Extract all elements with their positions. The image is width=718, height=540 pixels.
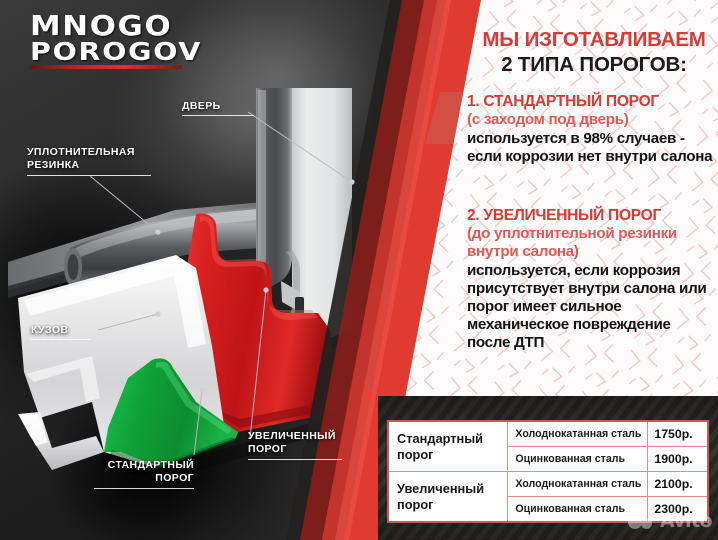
callout-body-label: КУЗОВ bbox=[31, 324, 68, 336]
price-value: 1900р. bbox=[648, 447, 708, 472]
callout-standard-label: СТАНДАРТНЫЙ ПОРОГ bbox=[108, 459, 194, 484]
price-value: 1750р. bbox=[648, 421, 708, 447]
headline-line-1: МЫ ИЗГОТАВЛИВАЕМ bbox=[472, 29, 716, 52]
price-material: Холоднокатанная сталь bbox=[508, 472, 648, 497]
sill-type-block-extended: 2. УВЕЛИЧЕННЫЙ ПОРОГ (до уплотнительной … bbox=[467, 207, 717, 352]
price-material: Оцинкованная сталь bbox=[508, 447, 648, 472]
avito-watermark-text: Avito bbox=[660, 510, 712, 532]
callout-underline bbox=[248, 459, 342, 460]
callout-door: ДВЕРЬ bbox=[182, 100, 262, 116]
callout-seal-label: УПЛОТНИТЕЛЬНАЯ РЕЗИНКА bbox=[27, 146, 135, 171]
price-category-extended: Увеличенный порог bbox=[388, 472, 508, 523]
price-material: Холоднокатанная сталь bbox=[508, 421, 648, 447]
price-category-standard: Стандартный порог bbox=[388, 421, 508, 472]
callout-extended-sill: УВЕЛИЧЕННЫЙ ПОРОГ bbox=[248, 430, 348, 460]
callout-standard-sill: СТАНДАРТНЫЙ ПОРОГ bbox=[88, 459, 194, 489]
poster-root: ДВЕРЬ УПЛОТНИТЕЛЬНАЯ РЕЗИНКА КУЗОВ СТАНД… bbox=[0, 0, 718, 540]
block-2-body: используется, если коррозия присутствует… bbox=[467, 262, 717, 352]
avito-watermark: Avito bbox=[628, 510, 712, 532]
logo-line-1: MNOGO bbox=[30, 13, 228, 39]
callout-body: КУЗОВ bbox=[31, 324, 97, 340]
callout-seal: УПЛОТНИТЕЛЬНАЯ РЕЗИНКА bbox=[27, 146, 157, 176]
block-2-title: 2. УВЕЛИЧЕННЫЙ ПОРОГ bbox=[467, 207, 717, 225]
logo-line-2: POROGOV bbox=[30, 40, 235, 63]
callout-extended-label: УВЕЛИЧЕННЫЙ ПОРОГ bbox=[248, 430, 336, 455]
block-1-subtitle: (с заходом под дверь) bbox=[467, 111, 717, 129]
block-1-title: 1. СТАНДАРТНЫЙ ПОРОГ bbox=[467, 93, 717, 111]
brand-logo: MNOGO POROGOV bbox=[30, 13, 210, 69]
callout-door-label: ДВЕРЬ bbox=[182, 100, 221, 112]
callout-underline bbox=[27, 175, 151, 176]
callout-underline bbox=[182, 115, 254, 116]
callout-underline bbox=[31, 339, 91, 340]
block-2-subtitle: (до уплотнительной резинки внутри салона… bbox=[467, 225, 717, 261]
table-row: Увеличенный порог Холоднокатанная сталь … bbox=[388, 472, 708, 497]
table-row: Стандартный порог Холоднокатанная сталь … bbox=[388, 421, 708, 447]
logo-red-underline bbox=[29, 65, 183, 69]
block-1-body: используется в 98% случаев - если корроз… bbox=[467, 130, 717, 166]
price-material: Оцинкованная сталь bbox=[508, 497, 648, 523]
headline-line-2: 2 ТИПА ПОРОГОВ: bbox=[472, 54, 716, 77]
avito-logo-icon bbox=[628, 513, 658, 529]
price-table: Стандартный порог Холоднокатанная сталь … bbox=[387, 420, 709, 523]
callout-underline bbox=[94, 488, 194, 489]
sill-type-block-standard: 1. СТАНДАРТНЫЙ ПОРОГ (с заходом под двер… bbox=[467, 93, 717, 166]
price-value: 2100р. bbox=[648, 472, 708, 497]
